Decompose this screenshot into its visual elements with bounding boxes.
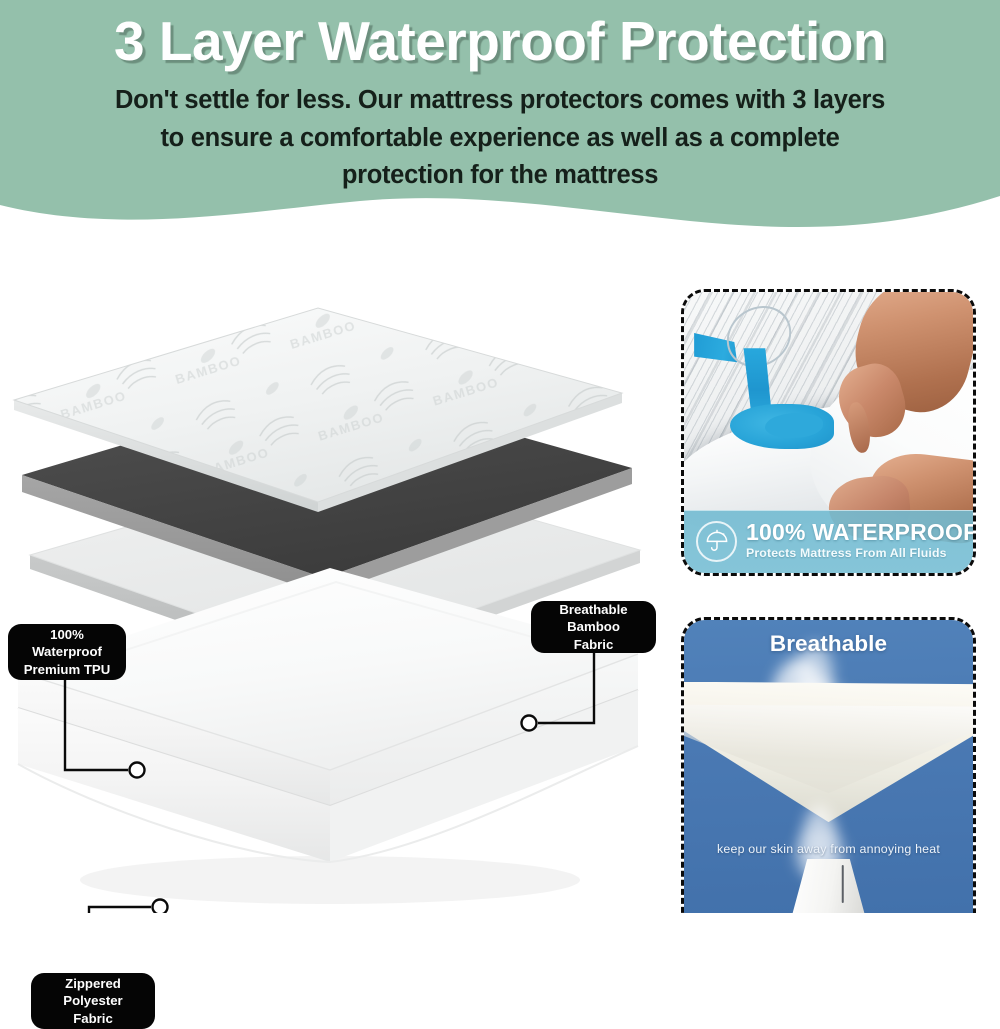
humidifier-vent	[841, 865, 844, 903]
callout-bamboo-line2: Fabric	[541, 636, 646, 654]
page-subtitle: Don't settle for less. Our mattress prot…	[80, 82, 920, 195]
waterproof-subline: Protects Mattress From All Fluids	[746, 546, 973, 560]
mattress-layers-graphic: BAMBOO	[0, 250, 670, 913]
callout-tpu-line1: 100% Waterproof	[18, 626, 116, 661]
waterproof-headline: 100% WATERPROOF	[746, 520, 973, 544]
page-title: 3 Layer Waterproof Protection	[0, 0, 1000, 69]
subtitle-line-1: Don't settle for less. Our mattress prot…	[80, 82, 920, 120]
subtitle-line-2: to ensure a comfortable experience as we…	[80, 120, 920, 158]
waterproof-banner: 100% WATERPROOF Protects Mattress From A…	[684, 510, 973, 573]
waterproof-photo: 100% WATERPROOF Protects Mattress From A…	[684, 292, 973, 573]
exploded-layers-diagram: BAMBOO	[0, 250, 670, 913]
panel-waterproof[interactable]: 100% WATERPROOF Protects Mattress From A…	[681, 289, 976, 576]
header-banner: 3 Layer Waterproof Protection Don't sett…	[0, 0, 1000, 250]
callout-poly-line2: Fabric	[41, 1010, 145, 1028]
callout-tpu-line2: Premium TPU	[18, 661, 116, 679]
callout-bamboo-fabric[interactable]: Breathable Bamboo Fabric	[531, 601, 656, 653]
callout-poly-line1: Zippered Polyester	[41, 975, 145, 1010]
panel-breathable[interactable]: Breathable keep our skin away from annoy…	[681, 617, 976, 913]
breathable-title: Breathable	[684, 631, 973, 657]
umbrella-icon	[696, 521, 737, 562]
callout-bamboo-line1: Breathable Bamboo	[541, 601, 646, 636]
subtitle-line-3: protection for the mattress	[80, 157, 920, 195]
breathable-photo: Breathable keep our skin away from annoy…	[684, 620, 973, 913]
breathable-caption: keep our skin away from annoying heat	[684, 842, 973, 856]
callout-zippered-polyester[interactable]: Zippered Polyester Fabric	[31, 973, 155, 1029]
banner-divider	[684, 510, 973, 512]
callout-waterproof-tpu[interactable]: 100% Waterproof Premium TPU	[8, 624, 126, 680]
draped-fabric-highlight	[684, 696, 973, 801]
